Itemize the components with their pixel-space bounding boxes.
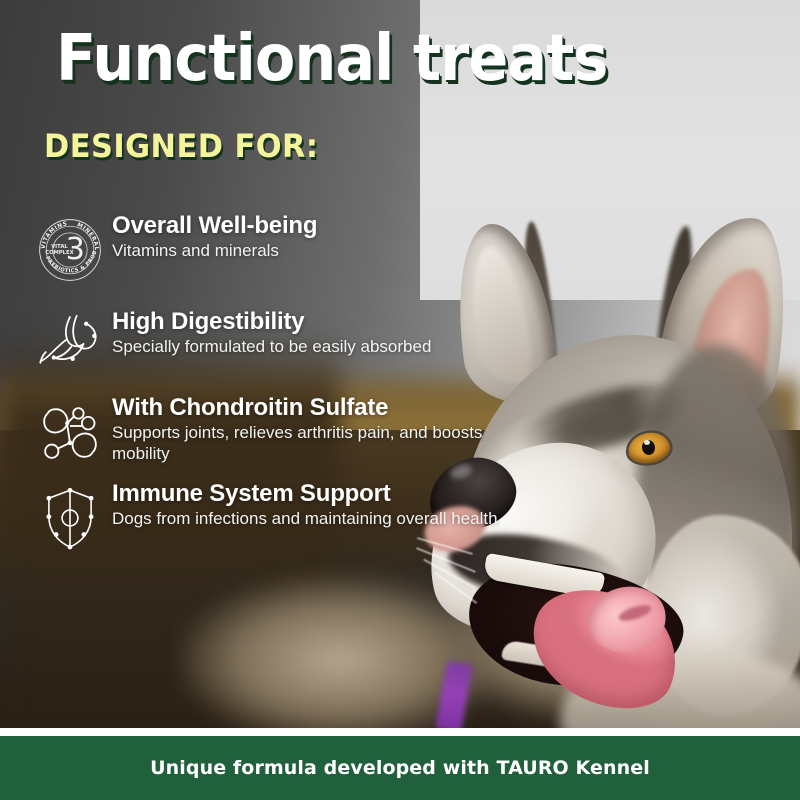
svg-text:VITAL: VITAL [51, 244, 68, 250]
feature-title: Overall Well-being [112, 213, 498, 240]
feature-item: With Chondroitin Sulfate Supports joints… [28, 395, 498, 467]
stomach-digestion-icon [28, 309, 112, 375]
banner-divider [0, 728, 800, 736]
feature-item: Immune System Support Dogs from infectio… [28, 481, 498, 551]
feature-item: High Digestibility Specially formulated … [28, 309, 498, 375]
feature-text: Immune System Support Dogs from infectio… [112, 481, 498, 530]
feature-item: VITAMINS MINERALS PREBIOTICS & PROBIOTIC… [28, 213, 498, 283]
stomach-digestion-icon-svg [36, 313, 104, 375]
feature-text: Overall Well-being Vitamins and minerals [112, 213, 498, 262]
feature-description: Supports joints, relieves arthritis pain… [112, 423, 498, 464]
shield-immune-icon [28, 481, 112, 551]
feature-description: Dogs from infections and maintaining ove… [112, 509, 498, 530]
footer-banner: Unique formula developed with TAURO Kenn… [0, 736, 800, 800]
vital-complex-3-badge-icon-svg: VITAMINS MINERALS PREBIOTICS & PROBIOTIC… [37, 217, 103, 283]
feature-text: High Digestibility Specially formulated … [112, 309, 498, 358]
footer-banner-text: Unique formula developed with TAURO Kenn… [150, 757, 650, 779]
vital-complex-3-badge-icon: VITAMINS MINERALS PREBIOTICS & PROBIOTIC… [28, 213, 112, 283]
feature-title: Immune System Support [112, 481, 498, 508]
feature-title: High Digestibility [112, 309, 498, 336]
feature-list: VITAMINS MINERALS PREBIOTICS & PROBIOTIC… [28, 213, 498, 567]
feature-title: With Chondroitin Sulfate [112, 395, 498, 422]
molecule-chondroitin-icon [28, 395, 112, 467]
feature-text: With Chondroitin Sulfate Supports joints… [112, 395, 498, 464]
feature-description: Specially formulated to be easily absorb… [112, 337, 498, 358]
poster: Functional treats DESIGNED FOR: VITAMINS [0, 0, 800, 800]
dog-eye-highlight [644, 440, 650, 445]
molecule-chondroitin-icon-svg [35, 399, 105, 467]
shield-immune-icon-svg [38, 485, 102, 551]
page-title: Functional treats [56, 26, 608, 93]
feature-description: Vitamins and minerals [112, 241, 498, 262]
page-subtitle: DESIGNED FOR: [44, 127, 319, 165]
svg-text:COMPLEX: COMPLEX [45, 250, 73, 256]
